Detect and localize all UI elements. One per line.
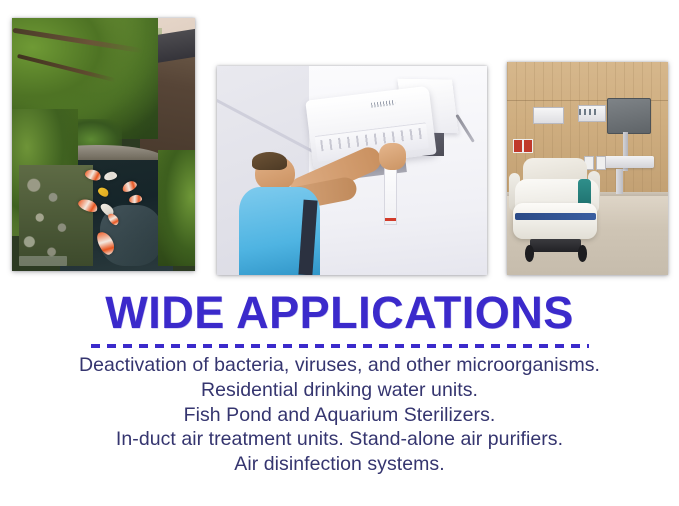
hospital-bed-blue-stripe (515, 213, 596, 219)
application-item: Deactivation of bacteria, viruses, and o… (0, 353, 679, 378)
photo-ac-installation (217, 66, 487, 275)
application-item: In-duct air treatment units. Stand-alone… (0, 427, 679, 452)
koi-pond-scene (12, 18, 195, 271)
ac-technician-hair (252, 152, 287, 171)
hospital-wall-outlet-panel (533, 107, 564, 124)
koi-moss-bank-right (158, 150, 195, 266)
ac-technician-hand (379, 143, 406, 170)
hospital-bed-base (530, 239, 582, 252)
ac-brand-logo (370, 100, 395, 109)
text-block: WIDE APPLICATIONS Deactivation of bacter… (0, 288, 679, 477)
hospital-emergency-outlet (513, 139, 523, 154)
photo-koi-pond (12, 18, 195, 271)
photo-strip (0, 0, 679, 285)
photo-hospital-room (507, 62, 668, 275)
hospital-light-switch (596, 156, 606, 171)
application-item: Air disinfection systems. (0, 452, 679, 477)
hospital-gas-outlet-ports (579, 109, 598, 115)
hospital-room-scene (507, 62, 668, 275)
page-title: WIDE APPLICATIONS (0, 288, 679, 338)
application-item: Fish Pond and Aquarium Sterilizers. (0, 403, 679, 428)
infographic-page: WIDE APPLICATIONS Deactivation of bacter… (0, 0, 679, 506)
applications-list: Deactivation of bacteria, viruses, and o… (0, 353, 679, 477)
koi-rock-bank (19, 165, 92, 266)
hospital-bed-footboard (513, 203, 597, 239)
hospital-tray-post (616, 169, 622, 195)
ac-room-scene (217, 66, 487, 275)
dashed-divider (91, 344, 589, 348)
ac-level-marker (385, 218, 396, 221)
koi-photo-watermark (19, 256, 67, 266)
hospital-wall-monitor (607, 98, 651, 134)
hospital-work-tray (599, 156, 654, 169)
application-item: Residential drinking water units. (0, 378, 679, 403)
hospital-emergency-outlet (523, 139, 533, 154)
